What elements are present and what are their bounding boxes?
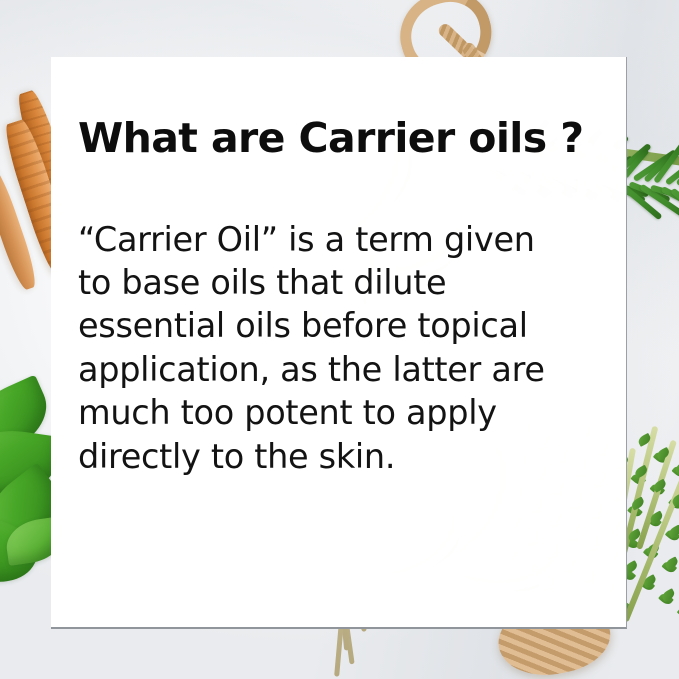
- thyme-leaf: [630, 496, 646, 510]
- thyme-leaf: [661, 588, 677, 602]
- body-line: directly to the skin.: [78, 435, 603, 478]
- body-line: application, as the latter are: [78, 348, 603, 391]
- body-line: “Carrier Oil” is a term given: [78, 218, 603, 261]
- thyme-leaf: [652, 479, 668, 493]
- body-line: to base oils that dilute: [78, 261, 603, 304]
- infographic-poster: What are Carrier oils ? “Carrier Oil” is…: [0, 0, 679, 679]
- body-paragraph: “Carrier Oil” is a term given to base oi…: [78, 218, 603, 478]
- page-title: What are Carrier oils ?: [78, 117, 603, 160]
- text-content: What are Carrier oils ? “Carrier Oil” is…: [51, 57, 627, 629]
- body-line: essential oils before topical: [78, 304, 603, 347]
- body-line: much too potent to apply: [78, 391, 603, 434]
